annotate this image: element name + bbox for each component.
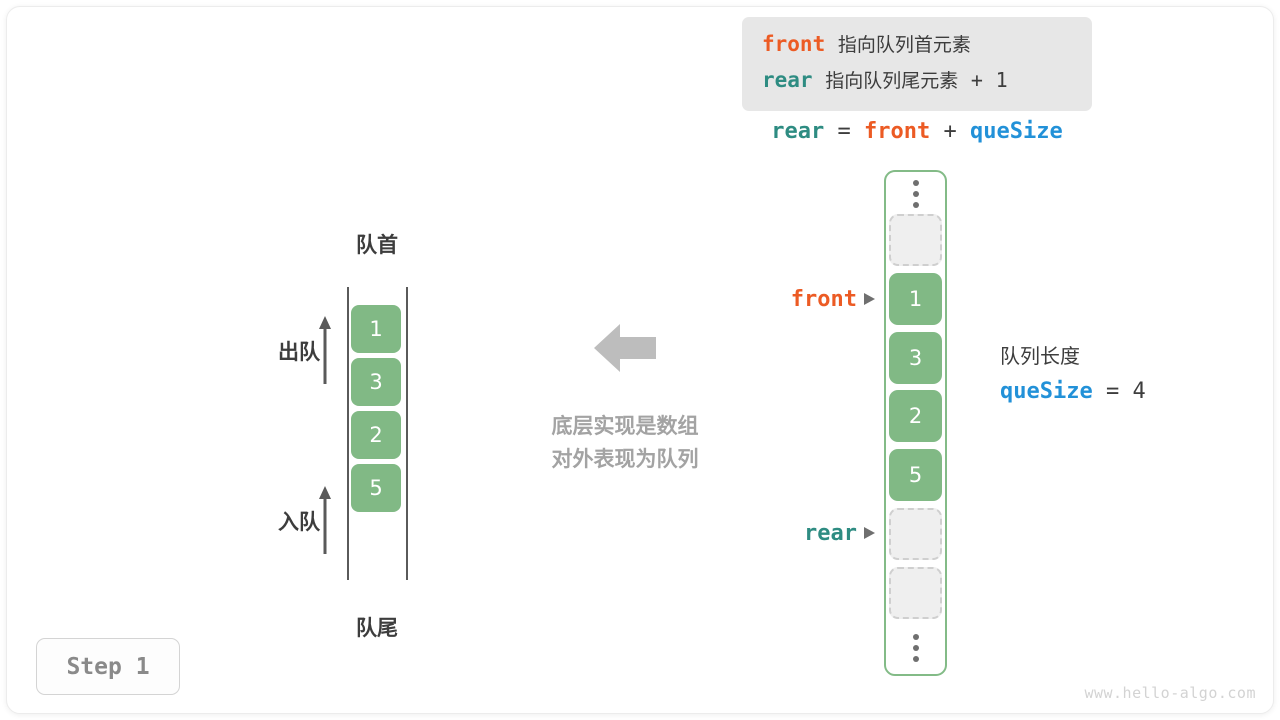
array-ellipsis-bottom bbox=[908, 634, 924, 662]
formula-quesize: queSize bbox=[970, 119, 1063, 144]
front-pointer-arrow-icon bbox=[864, 293, 875, 305]
formula-rear-equation: rear = front + queSize bbox=[742, 119, 1092, 144]
formula-equals: = bbox=[838, 119, 851, 144]
formula-rear: rear bbox=[771, 119, 824, 144]
array-slot-filled: 3 bbox=[889, 332, 942, 384]
watermark: www.hello-algo.com bbox=[1084, 684, 1256, 702]
queue-size-caption: 队列长度 bbox=[1000, 341, 1146, 371]
queue-rail-right bbox=[406, 287, 408, 580]
dequeue-label: 出队 bbox=[250, 336, 320, 366]
rear-pointer-arrow-icon bbox=[864, 527, 875, 539]
front-pointer: front bbox=[700, 284, 875, 314]
dequeue-arrow-icon bbox=[318, 314, 332, 384]
left-arrow-icon bbox=[594, 322, 656, 374]
legend-one: 1 bbox=[996, 68, 1008, 92]
quesize-equals: = bbox=[1106, 379, 1119, 404]
formula-front: front bbox=[864, 119, 930, 144]
queue-tail-label: 队尾 bbox=[317, 612, 437, 642]
queue-cell: 1 bbox=[351, 305, 401, 353]
array-slot-filled: 2 bbox=[889, 390, 942, 442]
legend-text-rear: 指向队列尾元素 bbox=[825, 70, 958, 92]
queue-rail-left bbox=[347, 287, 349, 580]
enqueue-arrow-icon bbox=[318, 484, 332, 554]
queue-cell: 2 bbox=[351, 411, 401, 459]
array-ellipsis-top bbox=[908, 180, 924, 208]
queue-size-note: 队列长度 queSize = 4 bbox=[1000, 341, 1146, 404]
array-slot-filled: 5 bbox=[889, 449, 942, 501]
array-slot-filled: 1 bbox=[889, 273, 942, 325]
legend-text-front: 指向队列首元素 bbox=[838, 34, 971, 56]
rear-pointer-label: rear bbox=[804, 521, 857, 546]
legend-box: front 指向队列首元素 rear 指向队列尾元素 + 1 bbox=[742, 17, 1092, 111]
array-slot-empty bbox=[889, 214, 942, 266]
queue-head-label: 队首 bbox=[317, 229, 437, 259]
array-slot-empty bbox=[889, 508, 942, 560]
step-badge: Step 1 bbox=[36, 638, 180, 695]
center-note: 底层实现是数组 对外表现为队列 bbox=[505, 410, 745, 476]
center-note-line1: 底层实现是数组 bbox=[505, 410, 745, 443]
array-slot-empty bbox=[889, 567, 942, 619]
rear-pointer: rear bbox=[700, 518, 875, 548]
formula-plus: + bbox=[944, 119, 957, 144]
legend-plus-sign: + bbox=[971, 68, 983, 92]
legend-keyword-front: front bbox=[762, 32, 825, 56]
diagram-canvas: front 指向队列首元素 rear 指向队列尾元素 + 1 rear = fr… bbox=[0, 0, 1280, 720]
legend-line-front: front 指向队列首元素 bbox=[762, 27, 1092, 63]
quesize-name: queSize bbox=[1000, 379, 1093, 404]
legend-keyword-rear: rear bbox=[762, 68, 813, 92]
enqueue-label: 入队 bbox=[250, 506, 320, 536]
queue-cell: 5 bbox=[351, 464, 401, 512]
quesize-value: 4 bbox=[1132, 379, 1145, 404]
legend-line-rear: rear 指向队列尾元素 + 1 bbox=[762, 63, 1092, 99]
queue-size-expression: queSize = 4 bbox=[1000, 379, 1146, 404]
front-pointer-label: front bbox=[791, 287, 857, 312]
queue-cell: 3 bbox=[351, 358, 401, 406]
center-note-line2: 对外表现为队列 bbox=[505, 443, 745, 476]
